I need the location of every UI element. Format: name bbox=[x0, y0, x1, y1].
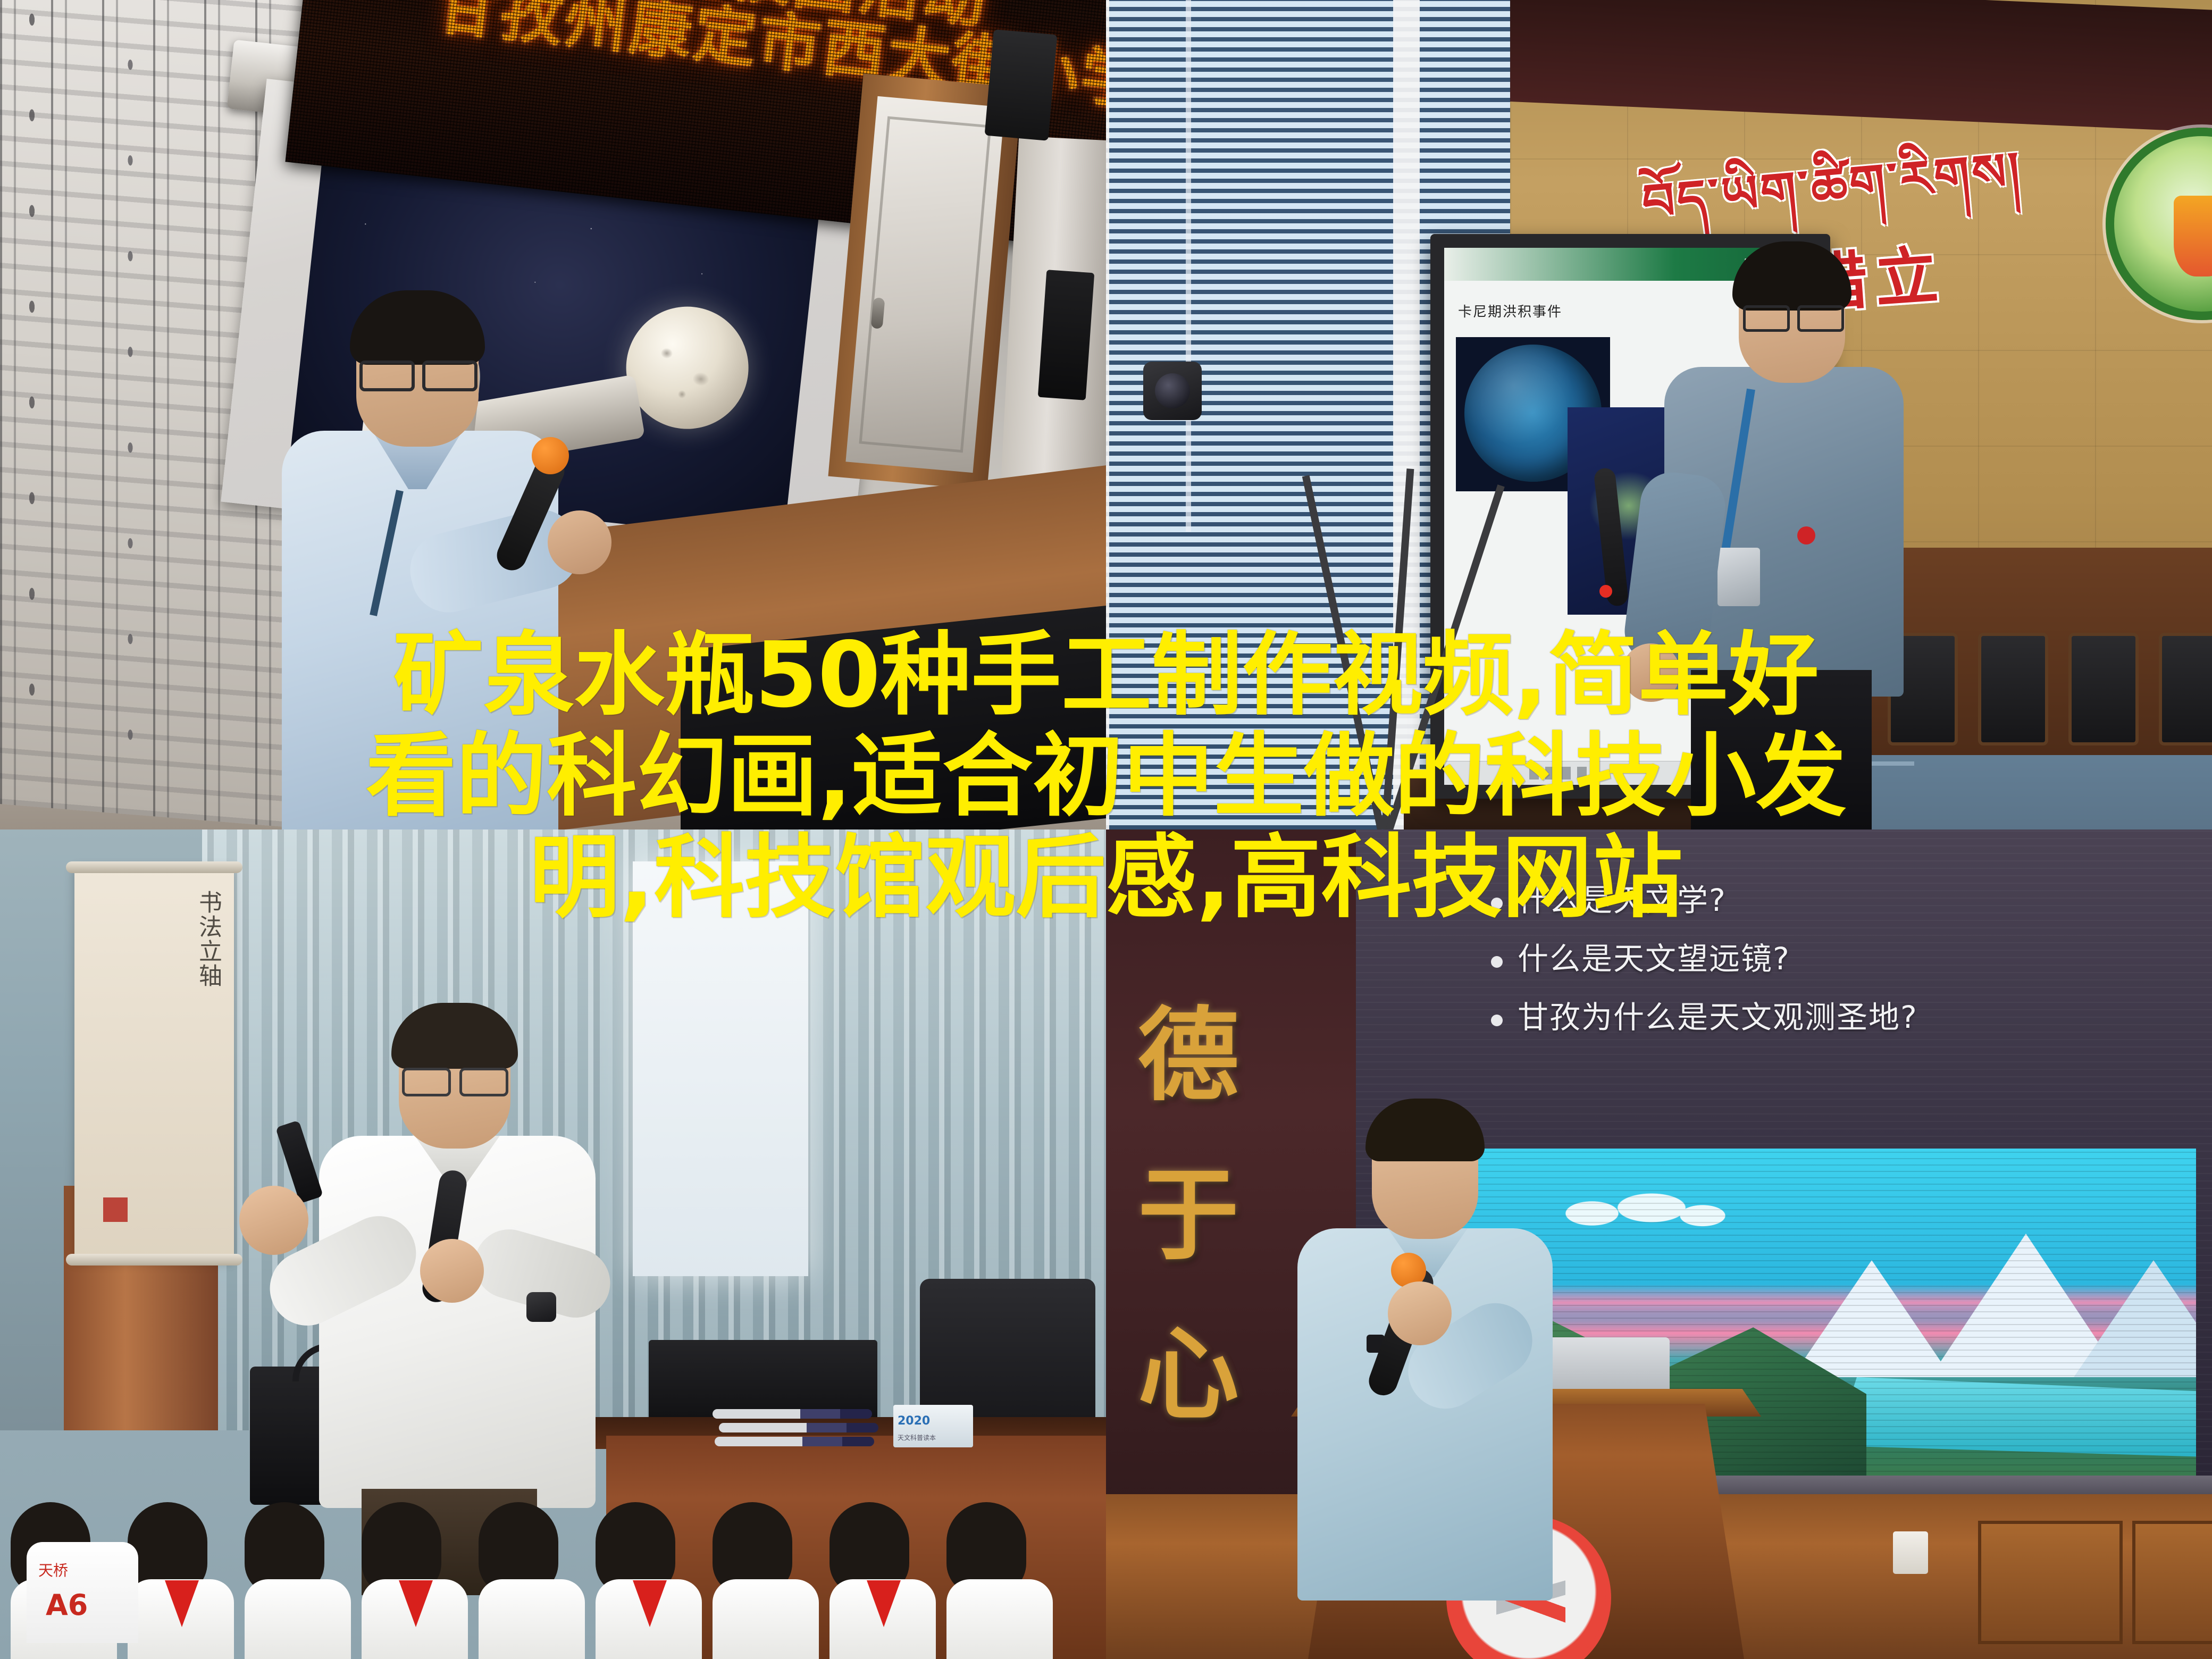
marker-pen bbox=[713, 1409, 872, 1419]
scroll-rod-top bbox=[66, 861, 242, 873]
microphone-windscreen bbox=[532, 437, 569, 474]
ppt-slide-title: 卡尼期洪积事件 bbox=[1458, 301, 1562, 321]
bright-window bbox=[633, 861, 808, 1276]
chair-row bbox=[1888, 633, 2212, 766]
desk-booklet: 2020 天文科普读本 bbox=[893, 1405, 973, 1447]
chair bbox=[2159, 633, 2212, 745]
scroll-rod-bottom bbox=[66, 1254, 242, 1266]
student-audience: 天桥 A6 bbox=[0, 1478, 1106, 1659]
slide-bullet: 什么是天文望远镜? bbox=[1489, 929, 2169, 988]
collage-canvas: 北京天文馆稻城双筒望远镜 …科技科普进校园活动 甘孜州康定市西大街小学 bbox=[0, 0, 2212, 1659]
calligraphy-char-2: 于 bbox=[1127, 1164, 1250, 1266]
teacher-hair bbox=[391, 1003, 518, 1069]
photo-panel-top-right: བོད་ཡིག་ཚིག་རིགས། 中的猎立 国家自然博物馆 卡尼期洪积事件 bbox=[1106, 0, 2212, 829]
speaker-hair bbox=[350, 290, 485, 365]
calligraphy-char-1: 德 bbox=[1127, 1005, 1250, 1106]
speaker-hand bbox=[1388, 1281, 1452, 1345]
id-badge bbox=[1717, 548, 1760, 606]
wall-speaker-lower bbox=[1038, 270, 1095, 400]
party-pin-icon bbox=[1797, 526, 1815, 544]
marker-pen bbox=[715, 1437, 874, 1446]
red-seal-stamp bbox=[103, 1197, 128, 1222]
slide-bullet-list: 什么是天文学? 什么是天文望远镜? 甘孜为什么是天文观测圣地? bbox=[1468, 871, 2169, 1047]
speaker-hand bbox=[1622, 643, 1680, 702]
blind-pull-cord bbox=[1186, 0, 1191, 532]
speaker-hair bbox=[1732, 241, 1851, 311]
booklet-year-label: 2020 bbox=[898, 1414, 930, 1428]
glasses-icon bbox=[402, 1068, 508, 1091]
chair bbox=[2068, 633, 2139, 745]
speaker-person bbox=[1281, 1106, 1579, 1659]
patch-top-text: 天桥 bbox=[38, 1559, 68, 1580]
calligraphy-char-3: 心 bbox=[1127, 1324, 1250, 1425]
microphone-indicator-light bbox=[1599, 585, 1612, 598]
teacher-right-hand bbox=[239, 1186, 308, 1255]
speaker-person bbox=[250, 298, 590, 829]
marker-pen bbox=[719, 1423, 878, 1432]
slide-bullet: 甘孜为什么是天文观测圣地? bbox=[1489, 988, 2169, 1046]
video-camera bbox=[1143, 362, 1202, 420]
chair bbox=[1978, 633, 2048, 745]
photo-panel-top-left: 北京天文馆稻城双筒望远镜 …科技科普进校园活动 甘孜州康定市西大街小学 bbox=[0, 0, 1106, 829]
scroll-calligraphy-text: 书法立轴 bbox=[90, 890, 220, 1237]
speaker-person bbox=[1638, 250, 1935, 829]
wristwatch-icon bbox=[526, 1292, 556, 1322]
calligraphy-scroll: 书法立轴 bbox=[74, 867, 234, 1260]
booklet-subtitle: 天文科普读本 bbox=[898, 1433, 936, 1442]
wall-power-socket bbox=[1893, 1531, 1928, 1574]
patch-code-text: A6 bbox=[46, 1588, 88, 1622]
globe-landmass bbox=[1488, 369, 1578, 454]
camera-tripod bbox=[1319, 404, 1452, 829]
photo-panel-bottom-left: 书法立轴 2020 天文科普读本 bbox=[0, 829, 1106, 1659]
speaker-shirt bbox=[282, 431, 558, 829]
glasses-icon bbox=[1743, 305, 1844, 326]
wood-carved-panel bbox=[1978, 1521, 2123, 1644]
wood-carved-panel bbox=[2132, 1521, 2212, 1644]
speaker-trousers bbox=[1691, 670, 1872, 829]
wall-speaker-upper bbox=[985, 29, 1058, 141]
slide-bullet: 什么是天文学? bbox=[1489, 871, 2169, 929]
teacher-left-hand bbox=[420, 1239, 484, 1303]
speaker-hand bbox=[548, 510, 611, 574]
glasses-icon bbox=[359, 361, 477, 385]
uniform-back-patch: 天桥 A6 bbox=[27, 1542, 138, 1643]
speaker-hair bbox=[1365, 1099, 1485, 1161]
photo-panel-bottom-right: 德 于 心 什么是天文学? 什么是天文望远镜? 甘孜为什么是天文观测圣地? bbox=[1106, 829, 2212, 1659]
